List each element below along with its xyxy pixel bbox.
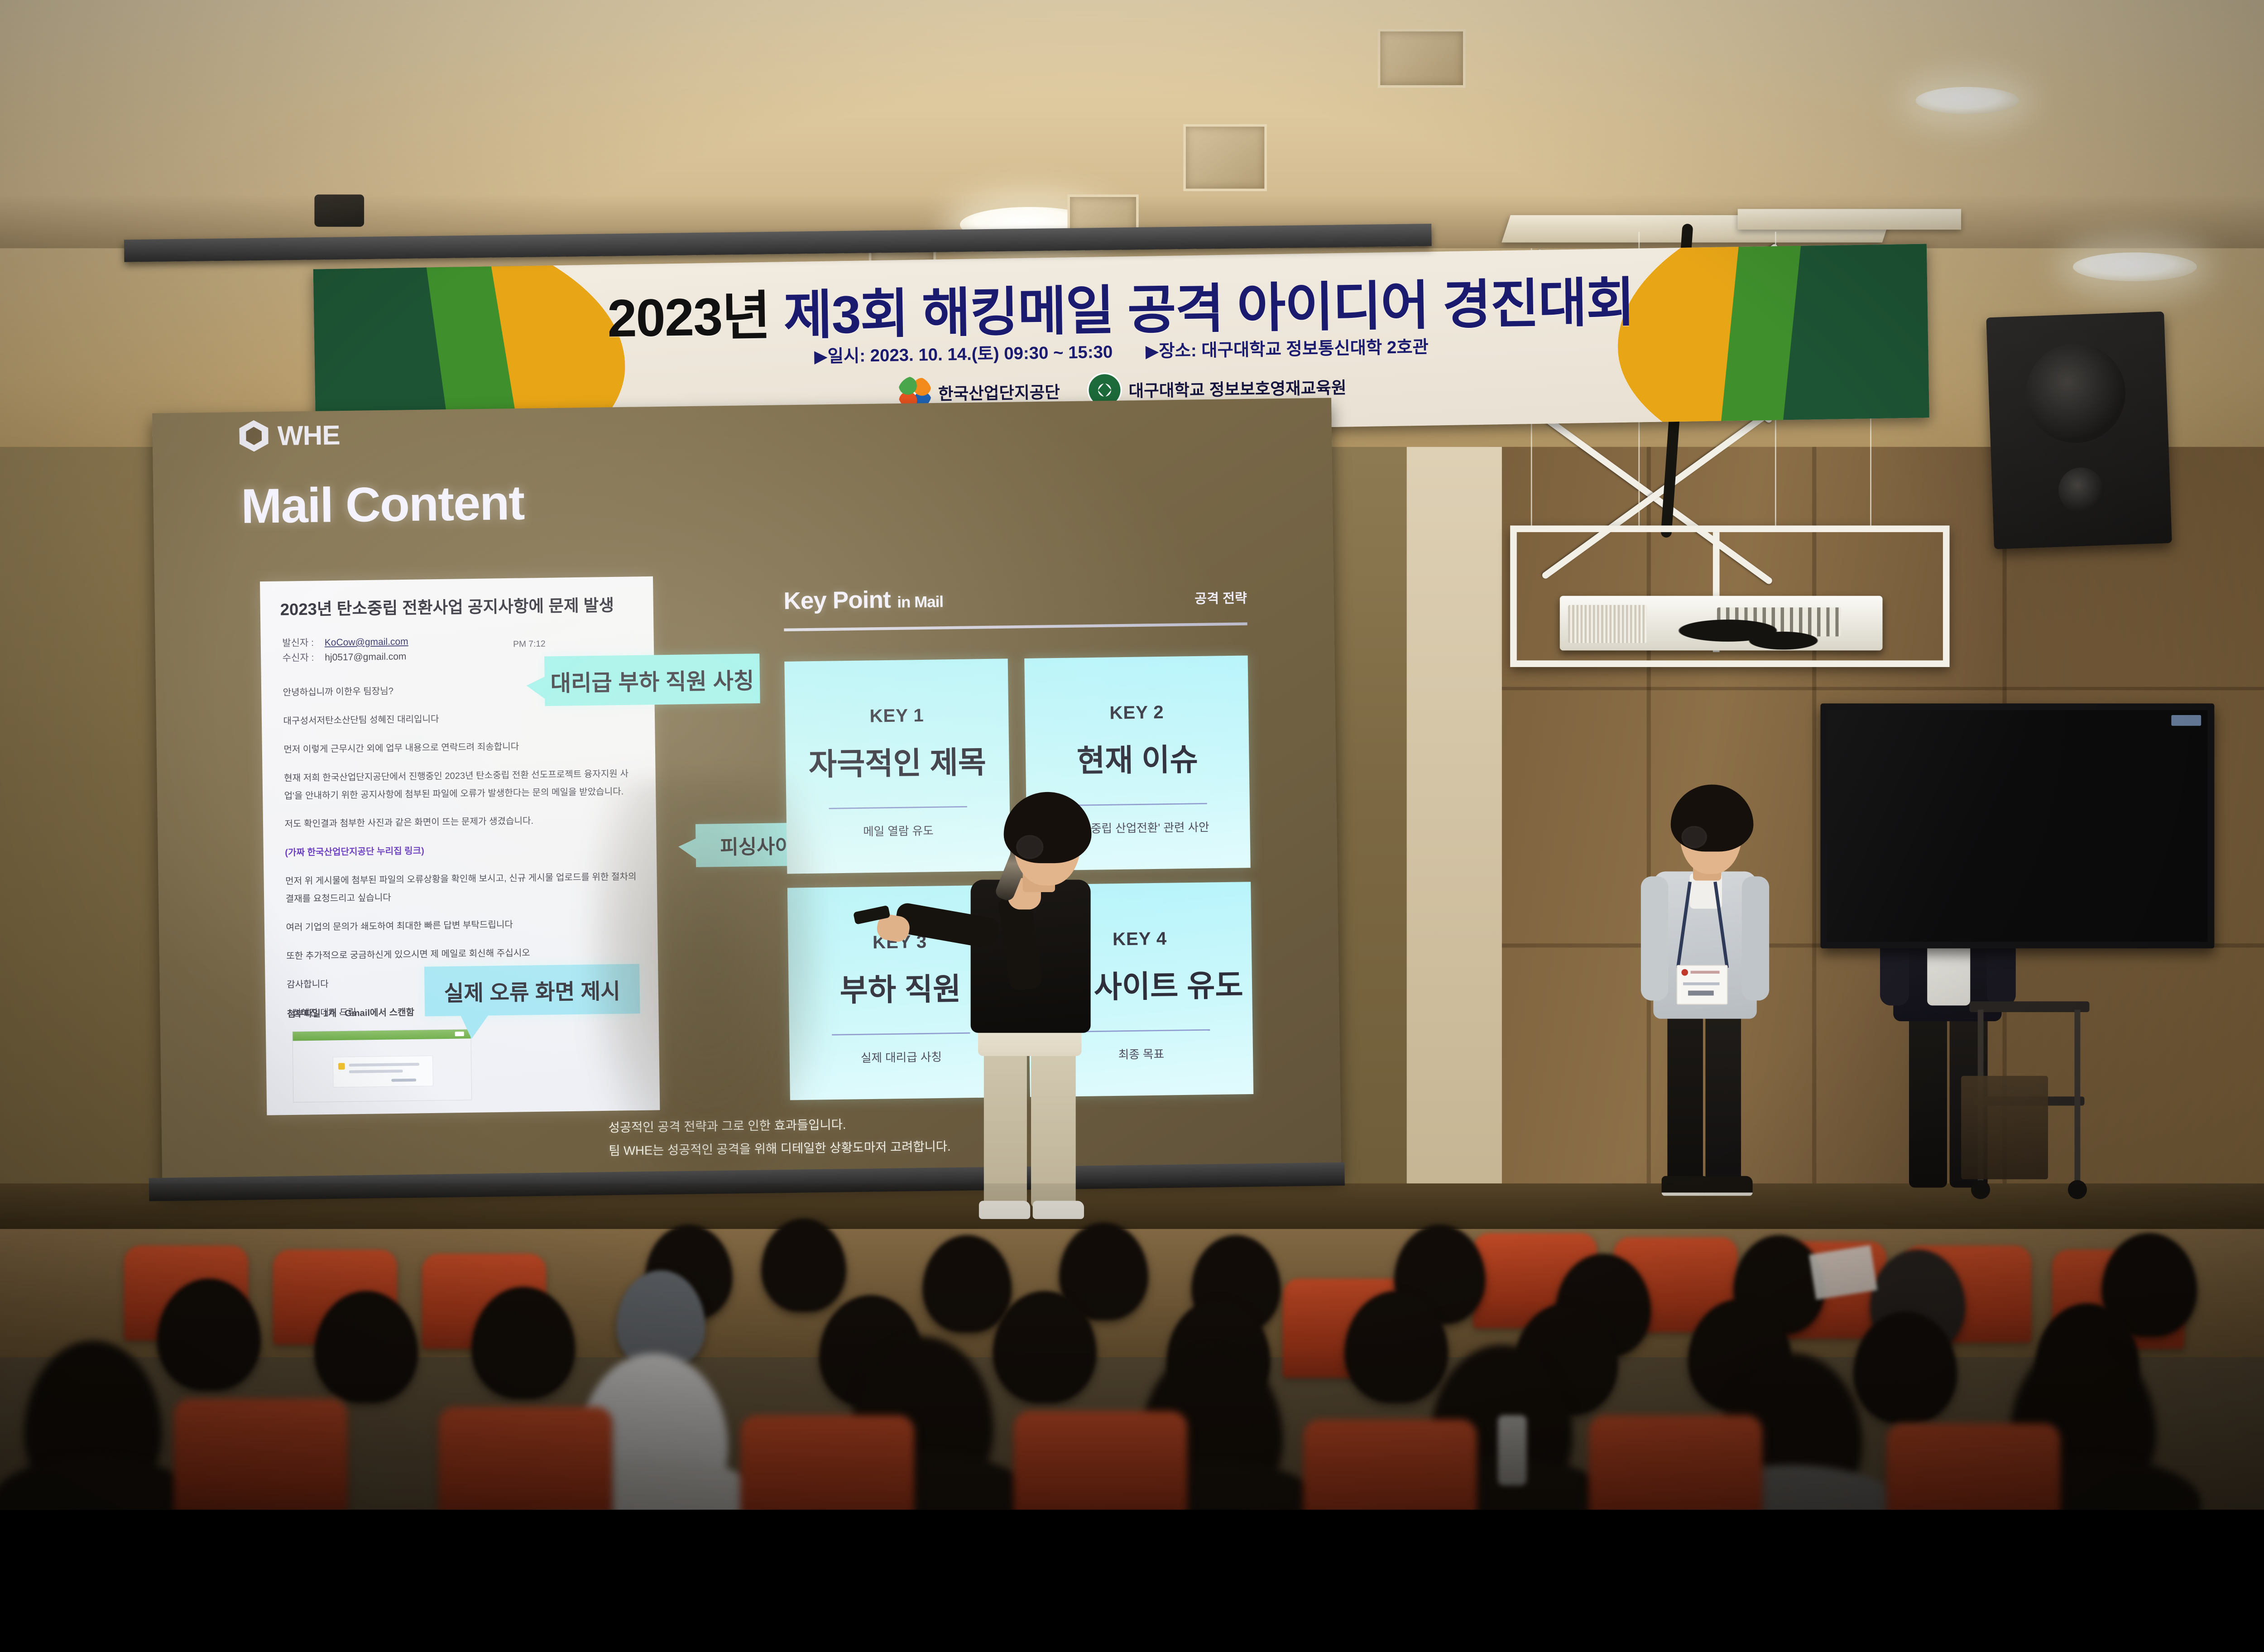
cart-wheel <box>2068 1180 2087 1199</box>
audience-shoulder <box>0 1456 199 1509</box>
staff2-leg <box>1909 1010 1947 1188</box>
presenter-leg <box>1031 1043 1076 1208</box>
mail-to-label: 수신자 : <box>282 650 322 666</box>
key-card-subtitle: 메일 열람 유도 <box>863 822 934 840</box>
staff-arm <box>1641 876 1668 1000</box>
staff-glasses <box>1681 826 1707 848</box>
projector-cable-bundle <box>1676 612 1850 658</box>
key-card-title: 현재 이슈 <box>1076 735 1198 781</box>
attachment-thumbnail[interactable] <box>292 1029 472 1102</box>
key-point-divider <box>784 622 1247 631</box>
mail-from-address[interactable]: KoCow@gmail.com <box>325 636 408 648</box>
callout-text: 대리급 부하 직원 사칭 <box>550 662 754 697</box>
audience-handout-paper <box>1809 1245 1877 1300</box>
presenter-shoe <box>1033 1201 1084 1219</box>
wall-mounted-display[interactable] <box>1820 703 2214 948</box>
mail-body-line: 현재 저희 한국산업단지공단에서 진행중인 2023년 탄소중립 전환 선도프로… <box>284 765 640 805</box>
cart-wheel <box>1971 1180 1990 1199</box>
mail-to-address: hj0517@gmail.com <box>325 651 407 663</box>
presenter-shoe <box>979 1201 1030 1219</box>
display-reflection <box>1827 710 2208 942</box>
warning-icon <box>338 1063 345 1070</box>
mail-body-line: 여러 기업의 문의가 쇄도하여 최대한 빠른 답변 부탁드립니다 <box>286 914 642 936</box>
team-logo: WHE <box>239 419 340 451</box>
mail-body-line: 대구성서저탄소산단팀 성혜진 대리입니다 <box>283 708 639 730</box>
ceiling-vent <box>1183 124 1267 191</box>
banner-date: ▶일시: 2023. 10. 14.(토) 09:30 ~ 15:30 <box>814 342 1113 366</box>
staff-badge <box>1676 965 1727 1005</box>
cart-shelf <box>1969 1001 2089 1012</box>
key-point-title-main: Key Point <box>783 586 891 614</box>
key-card-subtitle: 실제 대리급 사칭 <box>861 1048 942 1066</box>
key-card-number: KEY 1 <box>869 705 924 726</box>
presenter-hair <box>1004 792 1092 863</box>
slide-title: Mail Content <box>241 475 525 534</box>
auditorium-seat-foreground[interactable] <box>1887 1423 2061 1509</box>
auditorium-seat-foreground[interactable] <box>439 1407 613 1510</box>
auditorium-seat-foreground[interactable] <box>1303 1419 1477 1509</box>
banner-title-year: 2023년 <box>607 286 784 348</box>
staff-arm <box>1742 876 1769 1000</box>
presenter-leg <box>984 1043 1027 1208</box>
presenter-glasses <box>1016 835 1043 859</box>
staff-leg <box>1667 1010 1703 1184</box>
ceiling-vent <box>1378 29 1466 88</box>
auditorium-seat-foreground[interactable] <box>741 1415 915 1509</box>
ceiling-light <box>2073 252 2197 281</box>
speaker-tweeter <box>2058 467 2105 514</box>
auditorium-scene: 2023년 제3회 해킹메일 공격 아이디어 경진대회 ▶일시: 2023. 1… <box>0 0 2264 1509</box>
mail-body-line: 먼저 위 게시물에 첨부된 파일의 오류상황을 확인해 보시고, 신규 게시물 … <box>285 868 642 908</box>
auditorium-seat-foreground[interactable] <box>174 1398 348 1509</box>
sponsor-2-label: 대구대학교 정보보호영재교육원 <box>1128 374 1347 402</box>
error-dialog-thumbnail <box>333 1056 433 1088</box>
staff-shoe <box>1705 1176 1753 1196</box>
mail-timestamp: PM 7:12 <box>513 639 546 649</box>
banner-place: ▶장소: 대구대학교 정보통신대학 2호관 <box>1145 337 1429 361</box>
key-card-number: KEY 2 <box>1109 702 1164 723</box>
lift-ceiling-plate <box>1738 209 1961 230</box>
callout-impersonation: 대리급 부하 직원 사칭 <box>544 653 760 706</box>
staff-shoe <box>1662 1176 1710 1196</box>
key-point-section-tag: 공격 전략 <box>1194 588 1247 608</box>
ceiling-speaker <box>314 194 364 226</box>
key-point-title: Key Pointin Mail <box>783 586 943 615</box>
callout-text: 실제 오류 화면 제시 <box>444 974 620 1007</box>
key-card-title: 자극적인 제목 <box>808 738 986 784</box>
mail-from-label: 발신자 : <box>282 635 322 651</box>
staff-leg <box>1705 1010 1741 1184</box>
attachment-titlebar <box>293 1029 470 1041</box>
ceiling-light <box>1916 87 2019 114</box>
team-member-with-badge <box>1638 778 1775 1217</box>
mail-subject: 2023년 탄소중립 전환사업 공지사항에 문제 발생 <box>280 592 614 620</box>
mail-body-line: 먼저 이렇게 근무시간 외에 업무 내용으로 연락드려 죄송합니다 <box>283 736 639 759</box>
phishing-link[interactable]: (가짜 한국산업단지공단 누리집 링크) <box>285 840 641 862</box>
left-wall-strip <box>1407 447 1502 1229</box>
mail-attachment-label: 첨부파일 1개 · Gmail에서 스캔함 <box>287 1005 414 1020</box>
key-point-title-sub: in Mail <box>897 593 943 611</box>
auditorium-seat-foreground[interactable] <box>1589 1415 1763 1509</box>
team-logo-label: WHE <box>277 419 340 451</box>
stage-stool <box>1961 1076 2048 1179</box>
presenter <box>935 786 1167 1266</box>
cart-post <box>2075 1010 2081 1184</box>
key-point-header: Key Pointin Mail 공격 전략 <box>783 581 1247 615</box>
mail-headers: 발신자 : KoCow@gmail.com 수신자 : hj0517@gmail… <box>282 634 408 665</box>
auditorium-seat-foreground[interactable] <box>1014 1411 1188 1509</box>
mail-body-line: 또한 추가적으로 궁금하신게 있으시면 제 메일로 회신해 주십시오 <box>286 943 642 965</box>
speaker-cone <box>2024 342 2127 445</box>
hexagon-logo-icon <box>239 420 269 452</box>
wood-seam <box>1489 687 2264 690</box>
projector-vent-grill <box>1568 605 1647 643</box>
mail-body-line: 저도 확인결과 첨부한 사진과 같은 화면이 뜨는 문제가 생겼습니다. <box>284 811 640 833</box>
callout-error-screenshot: 실제 오류 화면 제시 <box>424 964 640 1017</box>
sponsor-1-label: 한국산업단지공단 <box>938 379 1060 404</box>
wall-loudspeaker <box>1986 312 2172 549</box>
audience-water-bottle <box>1498 1415 1527 1485</box>
